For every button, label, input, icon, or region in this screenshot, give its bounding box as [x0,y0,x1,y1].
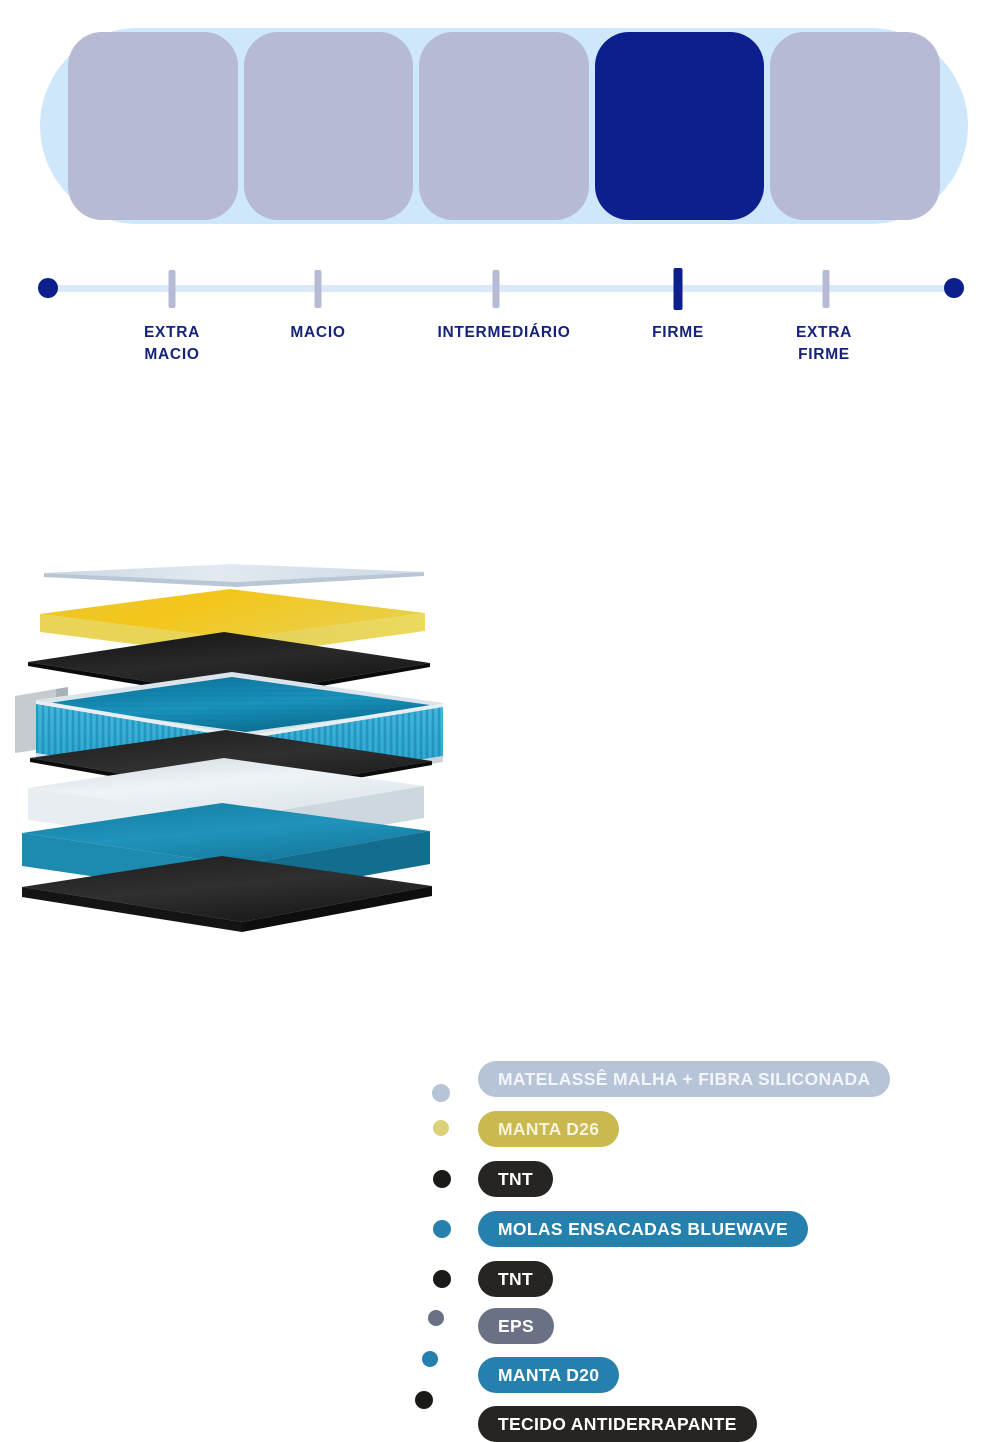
layer-label-manta-d20[interactable]: MANTA D20 [478,1357,619,1393]
slider-endpoint-left [38,278,58,298]
firmness-level-label-3[interactable]: FIRME [652,322,704,344]
firmness-slider[interactable]: EXTRA MACIOMACIOINTERMEDIÁRIOFIRMEEXTRA … [0,252,1000,392]
layer-connector-dot-tnt-bottom [433,1270,451,1288]
layer-label-tnt-top[interactable]: TNT [478,1161,553,1197]
firmness-level-label-4[interactable]: EXTRA FIRME [796,322,852,367]
layer-label-manta-d26[interactable]: MANTA D26 [478,1111,619,1147]
firmness-blocks [68,32,940,220]
layer-label-eps[interactable]: EPS [478,1308,554,1344]
layer-connector-dot-matelasse [432,1084,450,1102]
mattress-layers-section: MATELASSÊ MALHA + FIBRA SILICONADAMANTA … [0,520,1000,1000]
firmness-scale-section: EXTRA MACIOMACIOINTERMEDIÁRIOFIRMEEXTRA … [0,0,1000,400]
firmness-block-macio[interactable] [244,32,414,220]
firmness-level-label-2[interactable]: INTERMEDIÁRIO [437,322,570,344]
slider-tick-0[interactable] [169,270,176,308]
slider-tick-4[interactable] [823,270,830,308]
layer-connector-dot-tecido-antiderrapante [415,1391,433,1409]
slider-tick-3[interactable] [674,268,683,310]
layer-label-matelasse[interactable]: MATELASSÊ MALHA + FIBRA SILICONADA [478,1061,890,1097]
layer-label-tecido-antiderrapante[interactable]: TECIDO ANTIDERRAPANTE [478,1406,757,1442]
layer-label-molas-bluewave[interactable]: MOLAS ENSACADAS BLUEWAVE [478,1211,808,1247]
slider-tick-1[interactable] [315,270,322,308]
firmness-block-intermediario[interactable] [419,32,589,220]
layer-label-tnt-bottom[interactable]: TNT [478,1261,553,1297]
slider-tick-2[interactable] [493,270,500,308]
firmness-block-extra-firme[interactable] [770,32,940,220]
slab-matelasse [44,564,424,587]
firmness-block-firme[interactable] [595,32,765,220]
layer-connector-dot-tnt-top [433,1170,451,1188]
slider-endpoint-right [944,278,964,298]
layer-connector-dot-eps [428,1310,444,1326]
layer-connector-dot-manta-d20 [422,1351,438,1367]
mattress-exploded-illustration [0,520,470,1000]
layer-connector-dot-molas-bluewave [433,1220,451,1238]
firmness-level-label-0[interactable]: EXTRA MACIO [144,322,200,367]
layer-connector-dot-manta-d26 [433,1120,449,1136]
firmness-level-label-1[interactable]: MACIO [290,322,345,344]
firmness-block-extra-macio[interactable] [68,32,238,220]
slider-track[interactable] [48,285,956,292]
